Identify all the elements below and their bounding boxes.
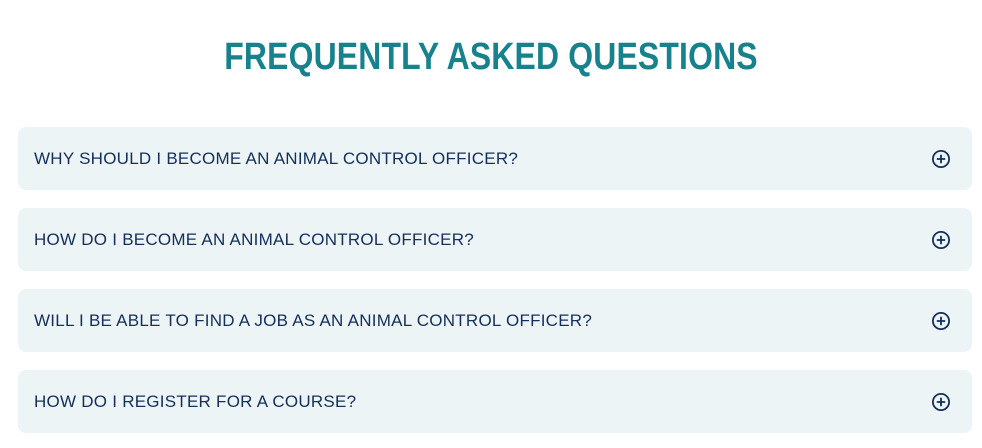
page-title: FREQUENTLY ASKED QUESTIONS [79, 33, 904, 81]
plus-circle-icon[interactable] [930, 148, 952, 170]
plus-circle-icon[interactable] [930, 391, 952, 413]
faq-item[interactable]: HOW DO I REGISTER FOR A COURSE? [18, 370, 972, 433]
faq-question-label: HOW DO I BECOME AN ANIMAL CONTROL OFFICE… [34, 229, 474, 251]
faq-question-label: WILL I BE ABLE TO FIND A JOB AS AN ANIMA… [34, 310, 592, 332]
faq-accordion-list: WHY SHOULD I BECOME AN ANIMAL CONTROL OF… [18, 127, 972, 433]
faq-question-label: WHY SHOULD I BECOME AN ANIMAL CONTROL OF… [34, 148, 518, 170]
plus-circle-icon[interactable] [930, 229, 952, 251]
faq-page: FREQUENTLY ASKED QUESTIONS WHY SHOULD I … [0, 0, 982, 448]
faq-item[interactable]: HOW DO I BECOME AN ANIMAL CONTROL OFFICE… [18, 208, 972, 271]
faq-item[interactable]: WILL I BE ABLE TO FIND A JOB AS AN ANIMA… [18, 289, 972, 352]
faq-question-label: HOW DO I REGISTER FOR A COURSE? [34, 391, 356, 413]
plus-circle-icon[interactable] [930, 310, 952, 332]
faq-item[interactable]: WHY SHOULD I BECOME AN ANIMAL CONTROL OF… [18, 127, 972, 190]
